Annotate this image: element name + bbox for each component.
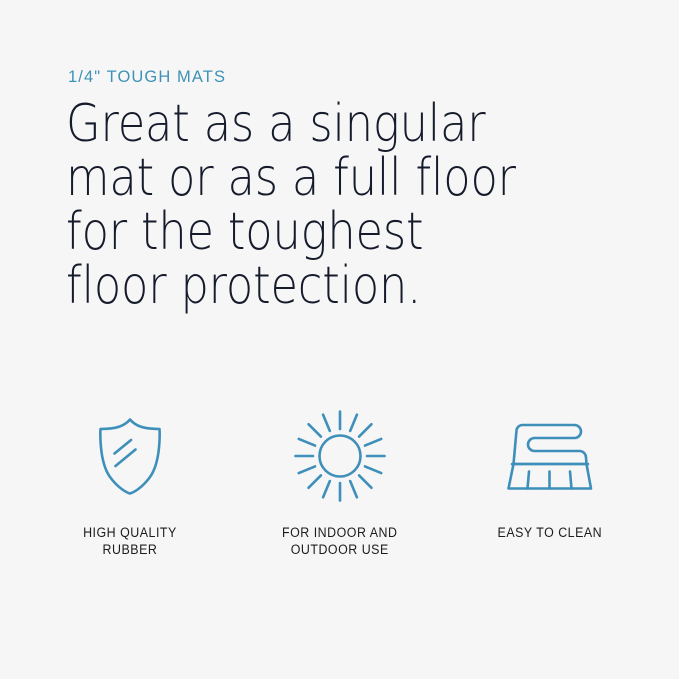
caption-line-1: FOR INDOOR AND xyxy=(282,524,397,541)
product-feature-panel: 1/4" TOUGH MATS Great as a singular mat … xyxy=(0,0,679,679)
headline-line-4: floor protection. xyxy=(66,259,513,313)
eyebrow-label: 1/4" TOUGH MATS xyxy=(68,68,226,87)
feature-caption-easy-to-clean: EASY TO CLEAN xyxy=(498,524,603,541)
caption-line-1: HIGH QUALITY xyxy=(83,524,177,541)
headline-line-3: for the toughest xyxy=(66,205,513,259)
caption-line-2: OUTDOOR USE xyxy=(282,541,397,558)
feature-caption-indoor-outdoor-use: FOR INDOOR AND OUTDOOR USE xyxy=(282,524,397,558)
caption-line-1: EASY TO CLEAN xyxy=(498,524,603,541)
shield-icon xyxy=(93,408,167,504)
headline-line-1: Great as a singular xyxy=(66,97,513,151)
feature-caption-high-quality-rubber: HIGH QUALITY RUBBER xyxy=(83,524,177,558)
feature-item-indoor-outdoor-use: FOR INDOOR AND OUTDOOR USE xyxy=(240,408,440,558)
feature-item-high-quality-rubber: HIGH QUALITY RUBBER xyxy=(30,408,230,558)
caption-line-2: RUBBER xyxy=(83,541,177,558)
feature-item-easy-to-clean: EASY TO CLEAN xyxy=(450,408,650,541)
page-title: Great as a singular mat or as a full flo… xyxy=(66,97,513,313)
brush-icon xyxy=(504,408,596,504)
sun-icon xyxy=(292,408,388,504)
feature-list: HIGH QUALITY RUBBER xyxy=(30,408,650,558)
headline-line-2: mat or as a full floor xyxy=(66,151,513,205)
